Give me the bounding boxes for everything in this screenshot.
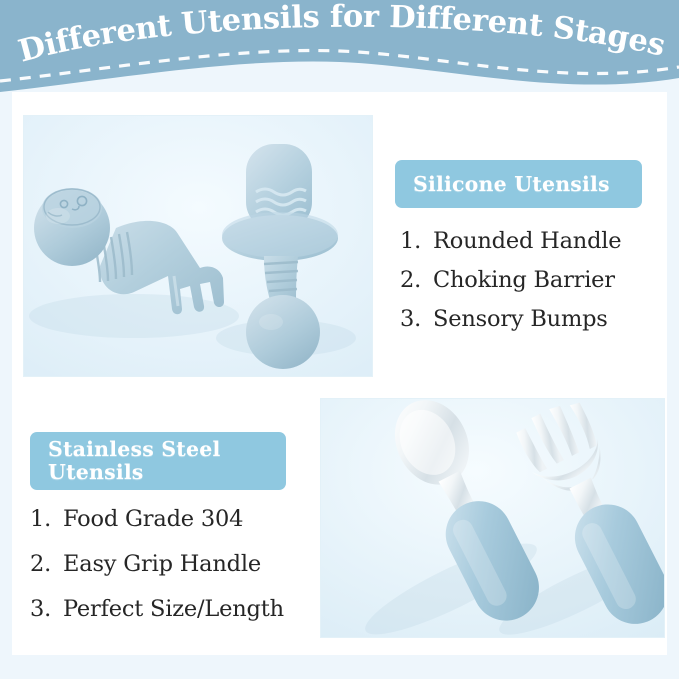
list-text: Easy Grip Handle — [63, 551, 261, 577]
stainless-utensils-photo — [320, 398, 665, 638]
list-item: 2. Easy Grip Handle — [30, 551, 284, 596]
list-item: 1. Rounded Handle — [400, 228, 621, 267]
list-number: 1. — [30, 506, 63, 532]
list-item: 3. Perfect Size/Length — [30, 596, 284, 641]
silicone-utensils-photo — [23, 115, 373, 377]
list-number: 3. — [30, 596, 63, 622]
silicone-feature-list: 1. Rounded Handle 2. Choking Barrier 3. … — [400, 228, 621, 345]
list-text: Sensory Bumps — [433, 306, 608, 332]
label-silicone-text: Silicone Utensils — [413, 173, 610, 196]
label-stainless-steel-utensils: Stainless Steel Utensils — [30, 432, 286, 490]
list-item: 3. Sensory Bumps — [400, 306, 621, 345]
list-text: Perfect Size/Length — [63, 596, 284, 622]
label-stainless-text: Stainless Steel Utensils — [48, 438, 220, 484]
label-stainless-line1: Stainless Steel — [48, 437, 220, 461]
list-number: 2. — [30, 551, 63, 577]
label-stainless-line2: Utensils — [48, 460, 144, 484]
list-item: 1. Food Grade 304 — [30, 506, 284, 551]
list-text: Choking Barrier — [433, 267, 615, 293]
list-number: 2. — [400, 267, 433, 293]
stainless-feature-list: 1. Food Grade 304 2. Easy Grip Handle 3.… — [30, 506, 284, 641]
list-item: 2. Choking Barrier — [400, 267, 621, 306]
header-banner — [0, 0, 679, 100]
list-text: Rounded Handle — [433, 228, 621, 254]
list-number: 1. — [400, 228, 433, 254]
list-text: Food Grade 304 — [63, 506, 243, 532]
label-silicone-utensils: Silicone Utensils — [395, 160, 642, 208]
infographic-page: Different Utensils for Different Stages — [0, 0, 679, 679]
list-number: 3. — [400, 306, 433, 332]
